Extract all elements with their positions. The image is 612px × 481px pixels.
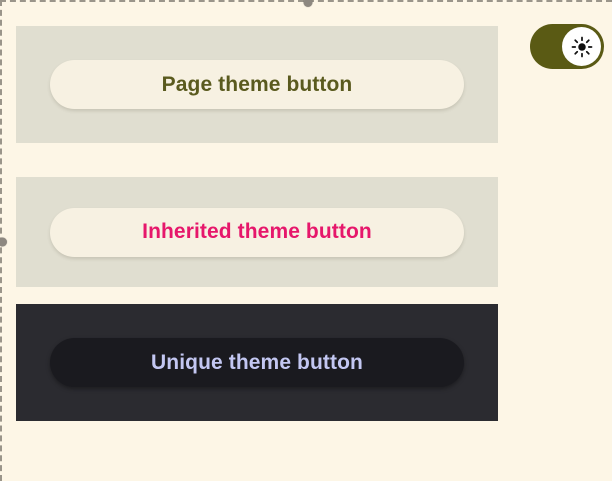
inherited-theme-section: Inherited theme button: [16, 177, 498, 287]
theme-toggle-knob: [562, 27, 601, 66]
unique-theme-section: Unique theme button: [16, 304, 498, 421]
sun-icon: [571, 36, 593, 58]
theme-toggle[interactable]: [530, 24, 604, 69]
left-resize-handle[interactable]: [0, 238, 7, 247]
resizable-preview-frame: Page theme button Inherited theme button…: [0, 0, 612, 481]
top-resize-handle[interactable]: [304, 0, 313, 7]
unique-theme-button[interactable]: Unique theme button: [50, 338, 464, 387]
page-theme-section: Page theme button: [16, 26, 498, 143]
page-theme-button[interactable]: Page theme button: [50, 60, 464, 109]
inherited-theme-button[interactable]: Inherited theme button: [50, 208, 464, 257]
